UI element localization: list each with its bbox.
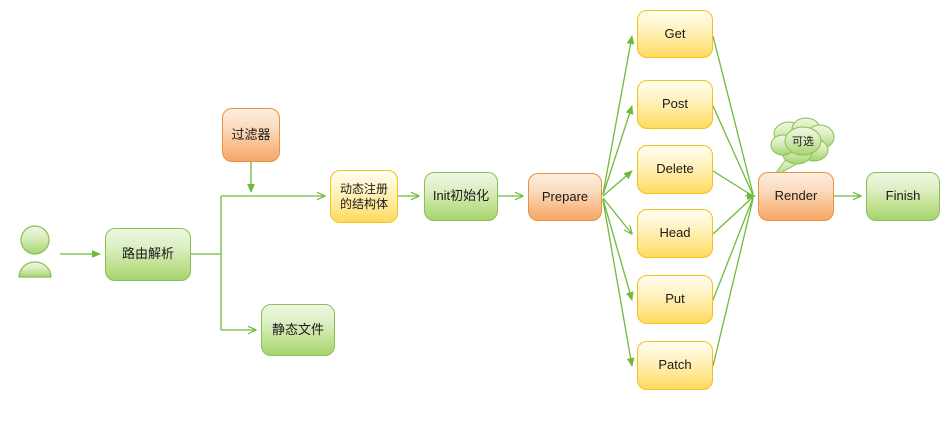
node-get[interactable]: Get xyxy=(637,10,713,58)
node-patch-label: Patch xyxy=(654,357,695,373)
node-put[interactable]: Put xyxy=(637,275,713,324)
edge-post-render xyxy=(713,106,753,195)
node-init-label: Init初始化 xyxy=(429,188,493,204)
edge-head-render xyxy=(713,197,753,234)
node-put-label: Put xyxy=(661,291,689,307)
node-finish[interactable]: Finish xyxy=(866,172,940,221)
node-delete-label: Delete xyxy=(652,161,698,177)
edge-layer xyxy=(0,0,951,448)
node-get-label: Get xyxy=(661,26,690,42)
node-dynamic-struct-label: 动态注册 的结构体 xyxy=(336,182,392,212)
edge-get-render xyxy=(713,36,753,194)
node-render-label: Render xyxy=(771,188,822,204)
node-prepare-label: Prepare xyxy=(538,189,592,205)
node-static-file[interactable]: 静态文件 xyxy=(261,304,335,356)
node-prepare[interactable]: Prepare xyxy=(528,173,602,221)
node-finish-label: Finish xyxy=(882,188,925,204)
cloud-label: 可选 xyxy=(780,133,826,149)
edge-patch-render xyxy=(713,199,753,366)
node-head-label: Head xyxy=(655,225,694,241)
node-render[interactable]: Render xyxy=(758,172,834,221)
edge-prepare-post xyxy=(603,106,632,195)
node-delete[interactable]: Delete xyxy=(637,145,713,194)
node-filter[interactable]: 过滤器 xyxy=(222,108,280,162)
flowchart-canvas: 可选 路由解析 过滤器 静态文件 动态注册 的结构体 Init初始化 Prepa… xyxy=(0,0,951,448)
node-static-file-label: 静态文件 xyxy=(268,322,328,338)
edge-delete-render xyxy=(713,171,753,196)
node-filter-label: 过滤器 xyxy=(227,127,274,143)
node-head[interactable]: Head xyxy=(637,209,713,258)
node-dynamic-struct[interactable]: 动态注册 的结构体 xyxy=(330,170,398,223)
user-actor-icon xyxy=(19,226,51,277)
node-post[interactable]: Post xyxy=(637,80,713,129)
node-post-label: Post xyxy=(658,96,692,112)
node-route-label: 路由解析 xyxy=(118,246,178,262)
edge-prepare-get xyxy=(603,36,632,194)
node-init[interactable]: Init初始化 xyxy=(424,172,498,221)
node-patch[interactable]: Patch xyxy=(637,341,713,390)
node-route[interactable]: 路由解析 xyxy=(105,228,191,281)
